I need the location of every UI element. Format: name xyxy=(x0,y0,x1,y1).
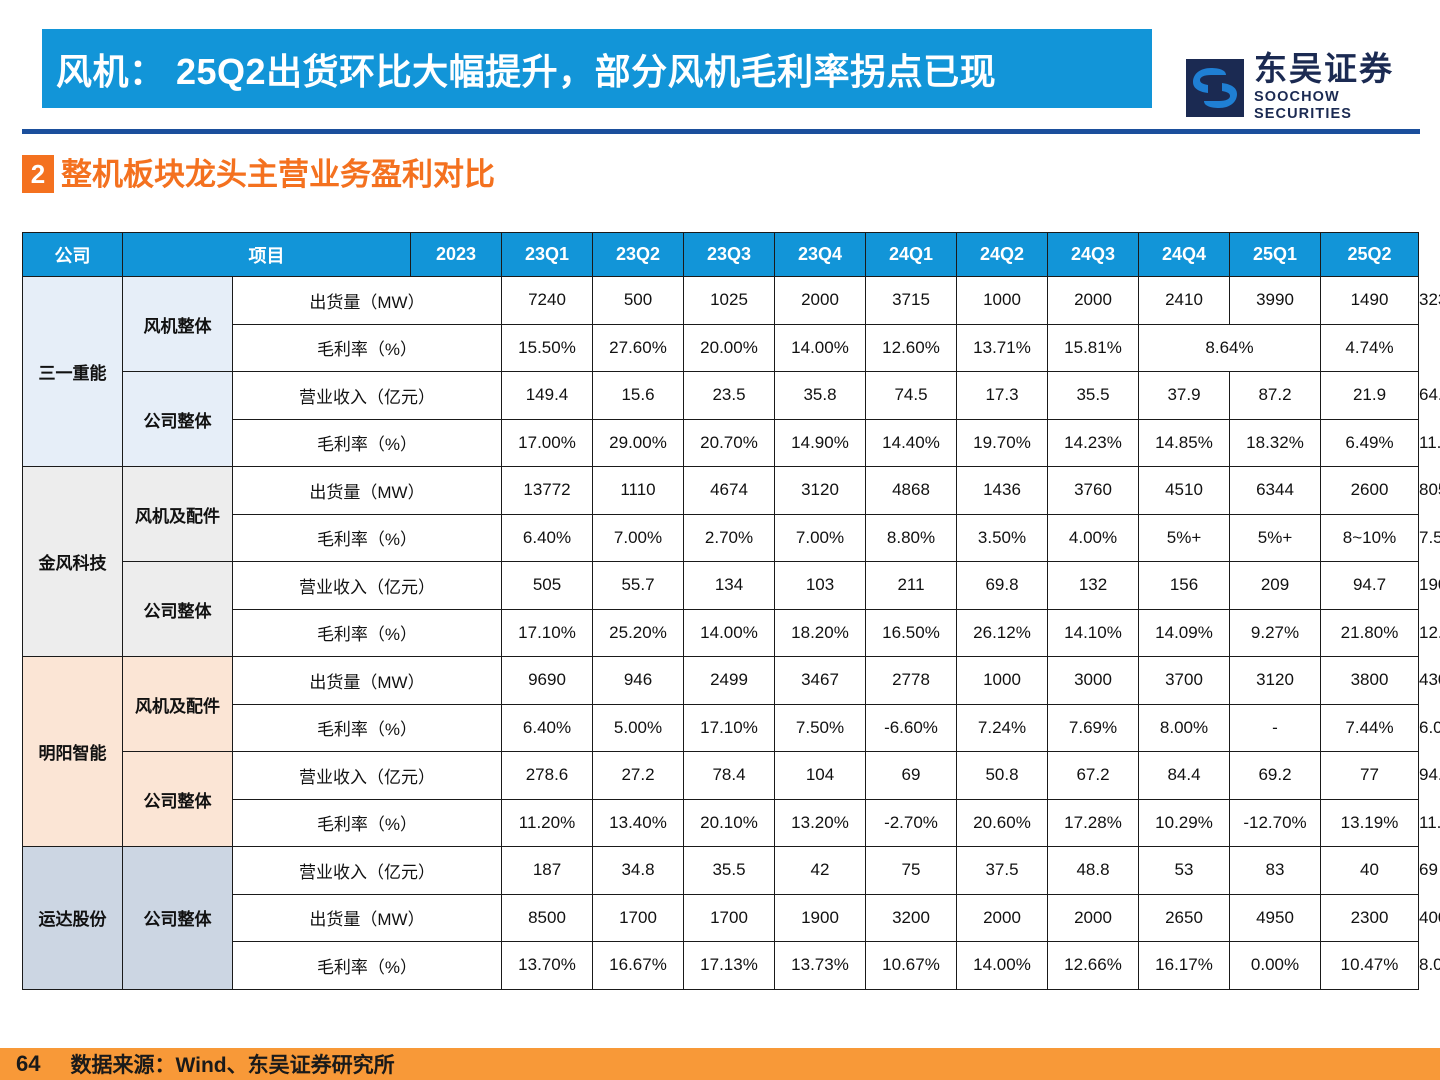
section-number-badge: 2 xyxy=(22,155,54,193)
data-cell: 37.5 xyxy=(957,847,1048,895)
data-cell: 23.5 xyxy=(684,372,775,420)
item-label-cell: 毛利率（%） xyxy=(233,704,502,752)
segment-name-cell: 公司整体 xyxy=(123,847,233,990)
company-name-cell: 金风科技 xyxy=(23,467,123,657)
data-cell: 27.60% xyxy=(593,324,684,372)
data-cell: 103 xyxy=(775,562,866,610)
data-cell: 4.00% xyxy=(1048,514,1139,562)
table-row: 公司整体营业收入（亿元）149.415.623.535.874.517.335.… xyxy=(23,372,1419,420)
data-cell: 25.20% xyxy=(593,609,684,657)
data-cell: 16.50% xyxy=(866,609,957,657)
data-cell: 17.13% xyxy=(684,942,775,990)
data-cell: 12.66% xyxy=(1048,942,1139,990)
data-cell: 17.10% xyxy=(502,609,593,657)
data-cell: 84.4 xyxy=(1139,752,1230,800)
data-cell: 3200 xyxy=(866,894,957,942)
item-label-cell: 毛利率（%） xyxy=(233,324,502,372)
data-cell: 14.09% xyxy=(1139,609,1230,657)
data-cell: 4.74% xyxy=(1321,324,1419,372)
item-label-cell: 毛利率（%） xyxy=(233,514,502,562)
data-cell: 18.20% xyxy=(775,609,866,657)
data-cell: 21.9 xyxy=(1321,372,1419,420)
segment-name-cell: 公司整体 xyxy=(123,752,233,847)
data-cell: 40 xyxy=(1321,847,1419,895)
data-cell: 10.29% xyxy=(1139,799,1230,847)
company-name-cell: 运达股份 xyxy=(23,847,123,990)
data-cell: 10.67% xyxy=(866,942,957,990)
data-cell: 8.00% xyxy=(1139,704,1230,752)
segment-name-cell: 公司整体 xyxy=(123,562,233,657)
data-cell: -6.60% xyxy=(866,704,957,752)
data-cell: 5%+ xyxy=(1139,514,1230,562)
data-cell: 14.85% xyxy=(1139,419,1230,467)
data-cell: 53 xyxy=(1139,847,1230,895)
data-cell: 1110 xyxy=(593,467,684,515)
data-cell: 77 xyxy=(1321,752,1419,800)
data-cell: 2778 xyxy=(866,657,957,705)
data-cell: 55.7 xyxy=(593,562,684,610)
data-cell: 83 xyxy=(1230,847,1321,895)
table-row: 毛利率（%）13.70%16.67%17.13%13.73%10.67%14.0… xyxy=(23,942,1419,990)
table-row: 公司整体营业收入（亿元）278.627.278.41046950.867.284… xyxy=(23,752,1419,800)
data-cell: 4510 xyxy=(1139,467,1230,515)
column-header-2023: 2023 xyxy=(411,233,502,277)
section-title: 整机板块龙头主营业务盈利对比 xyxy=(61,159,495,190)
data-cell: 946 xyxy=(593,657,684,705)
data-cell: 13.40% xyxy=(593,799,684,847)
table-row: 公司整体营业收入（亿元）50555.713410321169.813215620… xyxy=(23,562,1419,610)
data-cell: 2650 xyxy=(1139,894,1230,942)
data-cell: 6.40% xyxy=(502,704,593,752)
data-cell: 17.28% xyxy=(1048,799,1139,847)
data-cell: 7240 xyxy=(502,277,593,325)
data-cell: 3990 xyxy=(1230,277,1321,325)
column-header-24Q2: 24Q2 xyxy=(957,233,1048,277)
comparison-table-wrap: 公司项目202323Q123Q223Q323Q424Q124Q224Q324Q4… xyxy=(22,232,1418,990)
table-row: 毛利率（%）6.40%7.00%2.70%7.00%8.80%3.50%4.00… xyxy=(23,514,1419,562)
column-header-25Q1: 25Q1 xyxy=(1230,233,1321,277)
table-body: 三一重能风机整体出货量（MW）7240500102520003715100020… xyxy=(23,277,1419,990)
data-cell: 75 xyxy=(866,847,957,895)
data-cell: 16.17% xyxy=(1139,942,1230,990)
data-cell: 2300 xyxy=(1321,894,1419,942)
data-source-note: 数据来源：Wind、东吴证券研究所 xyxy=(70,1049,394,1079)
data-cell: 149.4 xyxy=(502,372,593,420)
data-cell: 3120 xyxy=(775,467,866,515)
data-cell: 74.5 xyxy=(866,372,957,420)
data-cell: 34.8 xyxy=(593,847,684,895)
item-label-cell: 出货量（MW） xyxy=(233,277,502,325)
logo-chinese-name: 东吴证券 xyxy=(1254,52,1440,87)
data-cell: 187 xyxy=(502,847,593,895)
data-cell: 13.73% xyxy=(775,942,866,990)
data-cell: 48.8 xyxy=(1048,847,1139,895)
item-label-cell: 出货量（MW） xyxy=(233,657,502,705)
table-row: 毛利率（%）6.40%5.00%17.10%7.50%-6.60%7.24%7.… xyxy=(23,704,1419,752)
column-header-24Q4: 24Q4 xyxy=(1139,233,1230,277)
item-label-cell: 营业收入（亿元） xyxy=(233,847,502,895)
data-cell: 15.81% xyxy=(1048,324,1139,372)
data-cell: 3.50% xyxy=(957,514,1048,562)
title-bar: 风机： 25Q2出货环比大幅提升，部分风机毛利率拐点已现 xyxy=(42,29,1152,108)
data-cell: 2000 xyxy=(957,894,1048,942)
data-cell: 1900 xyxy=(775,894,866,942)
data-cell: 278.6 xyxy=(502,752,593,800)
data-cell: 132 xyxy=(1048,562,1139,610)
column-header-item: 项目 xyxy=(123,233,411,277)
table-row: 明阳智能风机及配件出货量（MW）969094624993467277810003… xyxy=(23,657,1419,705)
table-row: 毛利率（%）17.00%29.00%20.70%14.90%14.40%19.7… xyxy=(23,419,1419,467)
page-title: 风机： 25Q2出货环比大幅提升，部分风机毛利率拐点已现 xyxy=(42,43,996,95)
table-row: 毛利率（%）11.20%13.40%20.10%13.20%-2.70%20.6… xyxy=(23,799,1419,847)
table-row: 出货量（MW）850017001700190032002000200026504… xyxy=(23,894,1419,942)
data-cell: 3120 xyxy=(1230,657,1321,705)
table-row: 运达股份公司整体营业收入（亿元）18734.835.5427537.548.85… xyxy=(23,847,1419,895)
column-header-company: 公司 xyxy=(23,233,123,277)
data-cell: 211 xyxy=(866,562,957,610)
data-cell: 11.20% xyxy=(502,799,593,847)
data-cell: 8500 xyxy=(502,894,593,942)
data-cell: 5%+ xyxy=(1230,514,1321,562)
data-cell: 4674 xyxy=(684,467,775,515)
data-cell: 3760 xyxy=(1048,467,1139,515)
data-cell: 5.00% xyxy=(593,704,684,752)
data-cell: 500 xyxy=(593,277,684,325)
column-header-23Q4: 23Q4 xyxy=(775,233,866,277)
data-cell: 69.8 xyxy=(957,562,1048,610)
data-cell: 3800 xyxy=(1321,657,1419,705)
data-cell: -2.70% xyxy=(866,799,957,847)
segment-name-cell: 风机及配件 xyxy=(123,657,233,752)
data-cell: 7.00% xyxy=(775,514,866,562)
data-cell: 2000 xyxy=(1048,894,1139,942)
item-label-cell: 营业收入（亿元） xyxy=(233,372,502,420)
data-cell: 3715 xyxy=(866,277,957,325)
item-label-cell: 毛利率（%） xyxy=(233,419,502,467)
section-heading: 2 整机板块龙头主营业务盈利对比 xyxy=(22,155,495,193)
data-cell: 35.8 xyxy=(775,372,866,420)
data-cell: 1436 xyxy=(957,467,1048,515)
data-cell: 37.9 xyxy=(1139,372,1230,420)
data-cell: 1700 xyxy=(593,894,684,942)
data-cell: 1490 xyxy=(1321,277,1419,325)
data-cell: 69.2 xyxy=(1230,752,1321,800)
data-cell: 15.6 xyxy=(593,372,684,420)
data-cell: 156 xyxy=(1139,562,1230,610)
column-header-24Q1: 24Q1 xyxy=(866,233,957,277)
item-label-cell: 毛利率（%） xyxy=(233,942,502,990)
item-label-cell: 出货量（MW） xyxy=(233,894,502,942)
data-cell: - xyxy=(1230,704,1321,752)
data-cell: 7.24% xyxy=(957,704,1048,752)
data-cell: 7.69% xyxy=(1048,704,1139,752)
data-cell: 2410 xyxy=(1139,277,1230,325)
data-cell: 13.71% xyxy=(957,324,1048,372)
data-cell: 104 xyxy=(775,752,866,800)
profitability-comparison-table: 公司项目202323Q123Q223Q323Q424Q124Q224Q324Q4… xyxy=(22,232,1419,990)
data-cell: 13.20% xyxy=(775,799,866,847)
data-cell: 3700 xyxy=(1139,657,1230,705)
data-cell: -12.70% xyxy=(1230,799,1321,847)
data-cell: 12.60% xyxy=(866,324,957,372)
data-cell: 20.00% xyxy=(684,324,775,372)
data-cell: 87.2 xyxy=(1230,372,1321,420)
data-cell: 17.3 xyxy=(957,372,1048,420)
data-cell: 14.90% xyxy=(775,419,866,467)
data-cell: 9.27% xyxy=(1230,609,1321,657)
item-label-cell: 营业收入（亿元） xyxy=(233,562,502,610)
company-logo: 东吴证券 SOOCHOW SECURITIES xyxy=(1186,52,1440,123)
data-cell: 8.80% xyxy=(866,514,957,562)
item-label-cell: 毛利率（%） xyxy=(233,609,502,657)
data-cell: 29.00% xyxy=(593,419,684,467)
header-divider xyxy=(22,129,1420,134)
data-cell: 134 xyxy=(684,562,775,610)
data-cell: 2.70% xyxy=(684,514,775,562)
data-cell: 78.4 xyxy=(684,752,775,800)
data-cell: 209 xyxy=(1230,562,1321,610)
data-cell: 8.64% xyxy=(1139,324,1321,372)
data-cell: 4868 xyxy=(866,467,957,515)
data-cell: 8~10% xyxy=(1321,514,1419,562)
data-cell: 19.70% xyxy=(957,419,1048,467)
data-cell: 4950 xyxy=(1230,894,1321,942)
page-number: 64 xyxy=(16,1051,40,1077)
slide-header: 风机： 25Q2出货环比大幅提升，部分风机毛利率拐点已现 东吴证券 SOOCHO… xyxy=(0,0,1440,134)
item-label-cell: 营业收入（亿元） xyxy=(233,752,502,800)
segment-name-cell: 风机整体 xyxy=(123,277,233,372)
data-cell: 6.40% xyxy=(502,514,593,562)
data-cell: 1025 xyxy=(684,277,775,325)
item-label-cell: 出货量（MW） xyxy=(233,467,502,515)
data-cell: 6.49% xyxy=(1321,419,1419,467)
data-cell: 94.7 xyxy=(1321,562,1419,610)
data-cell: 15.50% xyxy=(502,324,593,372)
item-label-cell: 毛利率（%） xyxy=(233,799,502,847)
data-cell: 3000 xyxy=(1048,657,1139,705)
data-cell: 7.50% xyxy=(775,704,866,752)
data-cell: 67.2 xyxy=(1048,752,1139,800)
data-cell: 13772 xyxy=(502,467,593,515)
column-header-25Q2: 25Q2 xyxy=(1321,233,1419,277)
column-header-24Q3: 24Q3 xyxy=(1048,233,1139,277)
data-cell: 27.2 xyxy=(593,752,684,800)
data-cell: 505 xyxy=(502,562,593,610)
data-cell: 14.40% xyxy=(866,419,957,467)
table-row: 三一重能风机整体出货量（MW）7240500102520003715100020… xyxy=(23,277,1419,325)
data-cell: 1000 xyxy=(957,657,1048,705)
data-cell: 14.00% xyxy=(775,324,866,372)
data-cell: 18.32% xyxy=(1230,419,1321,467)
data-cell: 35.5 xyxy=(1048,372,1139,420)
column-header-23Q1: 23Q1 xyxy=(502,233,593,277)
data-cell: 13.70% xyxy=(502,942,593,990)
column-header-23Q2: 23Q2 xyxy=(593,233,684,277)
data-cell: 10.47% xyxy=(1321,942,1419,990)
column-header-23Q3: 23Q3 xyxy=(684,233,775,277)
data-cell: 2499 xyxy=(684,657,775,705)
data-cell: 9690 xyxy=(502,657,593,705)
data-cell: 14.23% xyxy=(1048,419,1139,467)
data-cell: 2000 xyxy=(775,277,866,325)
data-cell: 26.12% xyxy=(957,609,1048,657)
data-cell: 20.70% xyxy=(684,419,775,467)
data-cell: 42 xyxy=(775,847,866,895)
company-name-cell: 三一重能 xyxy=(23,277,123,467)
data-cell: 14.00% xyxy=(684,609,775,657)
data-cell: 17.10% xyxy=(684,704,775,752)
data-cell: 1000 xyxy=(957,277,1048,325)
data-cell: 3467 xyxy=(775,657,866,705)
data-cell: 14.10% xyxy=(1048,609,1139,657)
soochow-logo-icon xyxy=(1186,59,1244,117)
data-cell: 17.00% xyxy=(502,419,593,467)
data-cell: 14.00% xyxy=(957,942,1048,990)
data-cell: 0.00% xyxy=(1230,942,1321,990)
data-cell: 16.67% xyxy=(593,942,684,990)
data-cell: 13.19% xyxy=(1321,799,1419,847)
company-name-cell: 明阳智能 xyxy=(23,657,123,847)
data-cell: 21.80% xyxy=(1321,609,1419,657)
logo-english-name: SOOCHOW SECURITIES xyxy=(1254,89,1440,124)
data-cell: 50.8 xyxy=(957,752,1048,800)
data-cell: 35.5 xyxy=(684,847,775,895)
segment-name-cell: 公司整体 xyxy=(123,372,233,467)
table-row: 毛利率（%）17.10%25.20%14.00%18.20%16.50%26.1… xyxy=(23,609,1419,657)
data-cell: 20.60% xyxy=(957,799,1048,847)
table-row: 毛利率（%）15.50%27.60%20.00%14.00%12.60%13.7… xyxy=(23,324,1419,372)
data-cell: 6344 xyxy=(1230,467,1321,515)
data-cell: 7.00% xyxy=(593,514,684,562)
data-cell: 69 xyxy=(866,752,957,800)
logo-wordmark: 东吴证券 SOOCHOW SECURITIES xyxy=(1254,52,1440,123)
slide-footer: 64 数据来源：Wind、东吴证券研究所 xyxy=(0,1048,1440,1080)
data-cell: 20.10% xyxy=(684,799,775,847)
data-cell: 2600 xyxy=(1321,467,1419,515)
table-header-row: 公司项目202323Q123Q223Q323Q424Q124Q224Q324Q4… xyxy=(23,233,1419,277)
segment-name-cell: 风机及配件 xyxy=(123,467,233,562)
data-cell: 2000 xyxy=(1048,277,1139,325)
table-row: 金风科技风机及配件出货量（MW）137721110467431204868143… xyxy=(23,467,1419,515)
data-cell: 1700 xyxy=(684,894,775,942)
data-cell: 7.44% xyxy=(1321,704,1419,752)
